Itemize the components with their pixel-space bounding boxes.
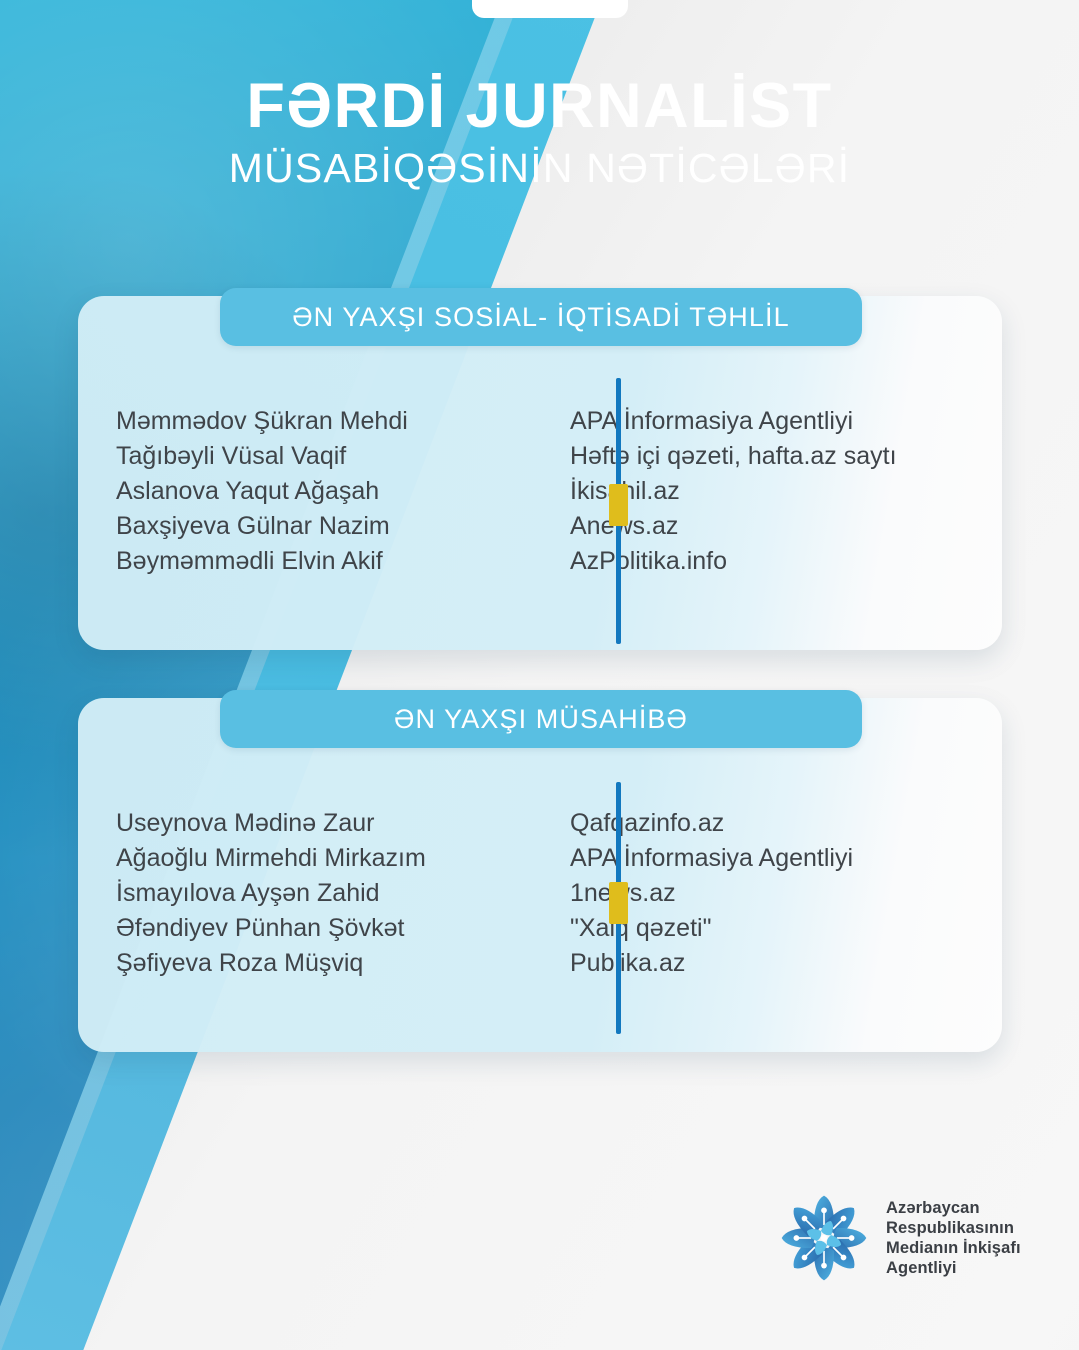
- logo-line: Medianın İnkişafı: [886, 1238, 1021, 1258]
- winner-names-column: Məmmədov Şükran Mehdi Tağıbəyli Vüsal Va…: [78, 370, 508, 579]
- outlet-name: İkisahil.az: [570, 474, 1002, 509]
- outlet-name: Publika.az: [570, 946, 1002, 981]
- card-body: Useynova Mədinə Zaur Ağaoğlu Mirmehdi Mi…: [78, 772, 1002, 981]
- winner-name: Tağıbəyli Vüsal Vaqif: [116, 439, 508, 474]
- outlet-names-column: Qafqazinfo.az APA İnformasiya Agentliyi …: [508, 772, 1002, 981]
- result-card: ƏN YAXŞI MÜSAHİBƏ Useynova Mədinə Zaur A…: [78, 698, 1002, 1052]
- outlet-names-column: APA İnformasiya Agentliyi Həftə içi qəze…: [508, 370, 1002, 579]
- card-header-band: ƏN YAXŞI MÜSAHİBƏ: [220, 690, 862, 748]
- organization-logo: Azərbaycan Respublikasının Medianın İnki…: [778, 1192, 1021, 1284]
- card-title: ƏN YAXŞI SOSİAL- İQTİSADİ TƏHLİL: [292, 302, 789, 333]
- card-title: ƏN YAXŞI MÜSAHİBƏ: [394, 704, 688, 735]
- poster-canvas: FƏRDİ JURNALİST MÜSABİQƏSİNİN NƏTİCƏLƏRİ…: [0, 0, 1079, 1350]
- winner-name: Əfəndiyev Pünhan Şövkət: [116, 911, 508, 946]
- outlet-name: Qafqazinfo.az: [570, 806, 1002, 841]
- logo-line: Agentliyi: [886, 1258, 1021, 1278]
- outlet-name: "Xalq qəzeti": [570, 911, 1002, 946]
- card-header-band: ƏN YAXŞI SOSİAL- İQTİSADİ TƏHLİL: [220, 288, 862, 346]
- media-agency-flower-icon: [778, 1192, 870, 1284]
- winner-name: İsmayılova Ayşən Zahid: [116, 876, 508, 911]
- organization-name: Azərbaycan Respublikasının Medianın İnki…: [886, 1198, 1021, 1278]
- card-body: Məmmədov Şükran Mehdi Tağıbəyli Vüsal Va…: [78, 370, 1002, 579]
- outlet-name: APA İnformasiya Agentliyi: [570, 404, 1002, 439]
- winner-name: Şəfiyeva Roza Müşviq: [116, 946, 508, 981]
- winner-name: Məmmədov Şükran Mehdi: [116, 404, 508, 439]
- winner-name: Baxşiyeva Gülnar Nazim: [116, 509, 508, 544]
- logo-line: Respublikasının: [886, 1218, 1021, 1238]
- winner-name: Aslanova Yaqut Ağaşah: [116, 474, 508, 509]
- winner-names-column: Useynova Mədinə Zaur Ağaoğlu Mirmehdi Mi…: [78, 772, 508, 981]
- column-divider: [616, 782, 621, 1034]
- divider-marker-icon: [609, 882, 628, 924]
- diagonal-white-panel: [5, 0, 1079, 1350]
- outlet-name: Anews.az: [570, 509, 1002, 544]
- outlet-name: 1news.az: [570, 876, 1002, 911]
- logo-line: Azərbaycan: [886, 1198, 1021, 1218]
- outlet-name: AzPolitika.info: [570, 544, 1002, 579]
- top-notch: [472, 0, 628, 18]
- outlet-name: APA İnformasiya Agentliyi: [570, 841, 1002, 876]
- winner-name: Useynova Mədinə Zaur: [116, 806, 508, 841]
- winner-name: Ağaoğlu Mirmehdi Mirkazım: [116, 841, 508, 876]
- result-card: ƏN YAXŞI SOSİAL- İQTİSADİ TƏHLİL Məmmədo…: [78, 296, 1002, 650]
- outlet-name: Həftə içi qəzeti, hafta.az saytı: [570, 439, 1002, 474]
- divider-marker-icon: [609, 484, 628, 526]
- winner-name: Bəyməmmədli Elvin Akif: [116, 544, 508, 579]
- column-divider: [616, 378, 621, 644]
